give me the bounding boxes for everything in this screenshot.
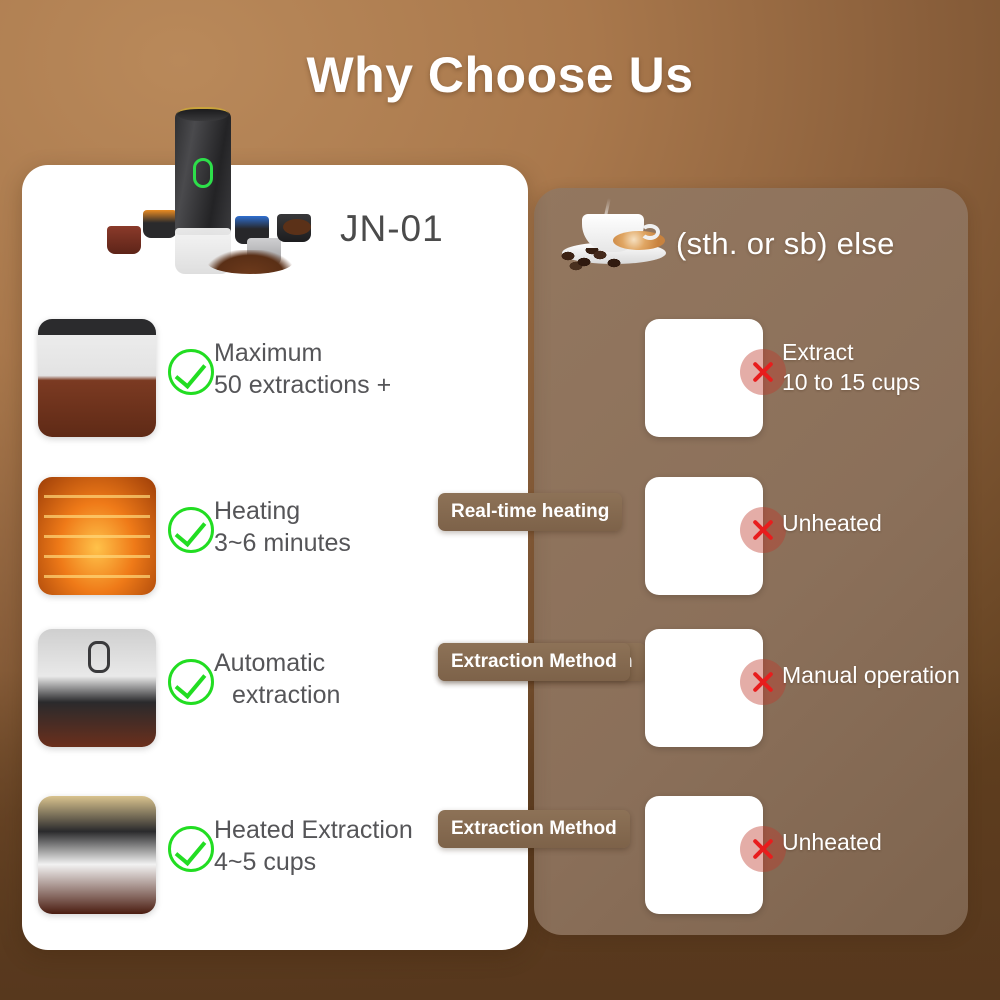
row-thumbnail-ours [38, 319, 156, 437]
comparison-row: Automatic extraction Extraction Method M… [0, 615, 1000, 765]
row-theirs-line1: Extract [782, 339, 854, 365]
row-text-ours: Heated Extraction 4~5 cups [214, 814, 470, 878]
row-ours-line1: Automatic [214, 649, 325, 677]
row-text-ours: Automatic extraction [214, 647, 454, 711]
row-text-theirs: Unheated [782, 508, 997, 538]
row-text-ours: Heating 3~6 minutes [214, 495, 454, 559]
cup-handle-icon [640, 224, 660, 240]
check-icon [168, 659, 214, 705]
row-ours-line2: extraction [214, 679, 454, 711]
row-text-theirs: Extract 10 to 15 cups [782, 337, 997, 398]
row-text-ours: Maximum 50 extractions + [214, 337, 454, 401]
row-ours-line2: 3~6 minutes [214, 527, 454, 559]
page-title: Why Choose Us [0, 46, 1000, 104]
check-icon [168, 826, 214, 872]
comparison-row: Heating 3~6 minutes Real-time heating Un… [0, 463, 1000, 613]
product-name-label: JN-01 [340, 208, 530, 250]
row-thumbnail-ours [38, 629, 156, 747]
check-icon [168, 507, 214, 553]
row-thumbnail-ours [38, 477, 156, 595]
row-thumbnail-ours [38, 796, 156, 914]
feature-badge: Real-time heating [438, 493, 622, 531]
cross-icon [740, 507, 786, 553]
row-theirs-line1: Unheated [782, 510, 882, 536]
row-text-theirs: Manual operation [782, 660, 1000, 690]
row-ours-line2: 4~5 cups [214, 846, 470, 878]
coffee-beans-icon [558, 248, 628, 272]
cross-icon [740, 826, 786, 872]
feature-badge: Extraction Method [438, 643, 630, 681]
espresso-machine-icon [175, 110, 231, 235]
row-ours-line1: Maximum [214, 339, 322, 367]
capsule-icon [143, 210, 177, 238]
comparison-row: Maximum 50 extractions + Real-time extra… [0, 305, 1000, 455]
product-hero-image [95, 110, 345, 270]
row-ours-line2: 50 extractions + [214, 369, 454, 401]
competitor-name-label: (sth. or sb) else [676, 226, 976, 262]
row-ours-line1: Heating [214, 497, 300, 525]
competitor-hero-image [556, 200, 676, 272]
cross-icon [740, 659, 786, 705]
row-theirs-line1: Manual operation [782, 662, 960, 688]
comparison-row: Heated Extraction 4~5 cups Extraction Me… [0, 782, 1000, 932]
row-theirs-line2: 10 to 15 cups [782, 367, 997, 397]
capsule-icon [277, 214, 311, 242]
feature-badge: Extraction Method [438, 810, 630, 848]
row-text-theirs: Unheated [782, 827, 997, 857]
coffee-grounds-icon [207, 250, 293, 274]
cross-icon [740, 349, 786, 395]
row-ours-line1: Heated Extraction [214, 816, 413, 844]
display-screen-icon [193, 158, 213, 188]
check-icon [168, 349, 214, 395]
row-theirs-line1: Unheated [782, 829, 882, 855]
capsule-icon [107, 226, 141, 254]
